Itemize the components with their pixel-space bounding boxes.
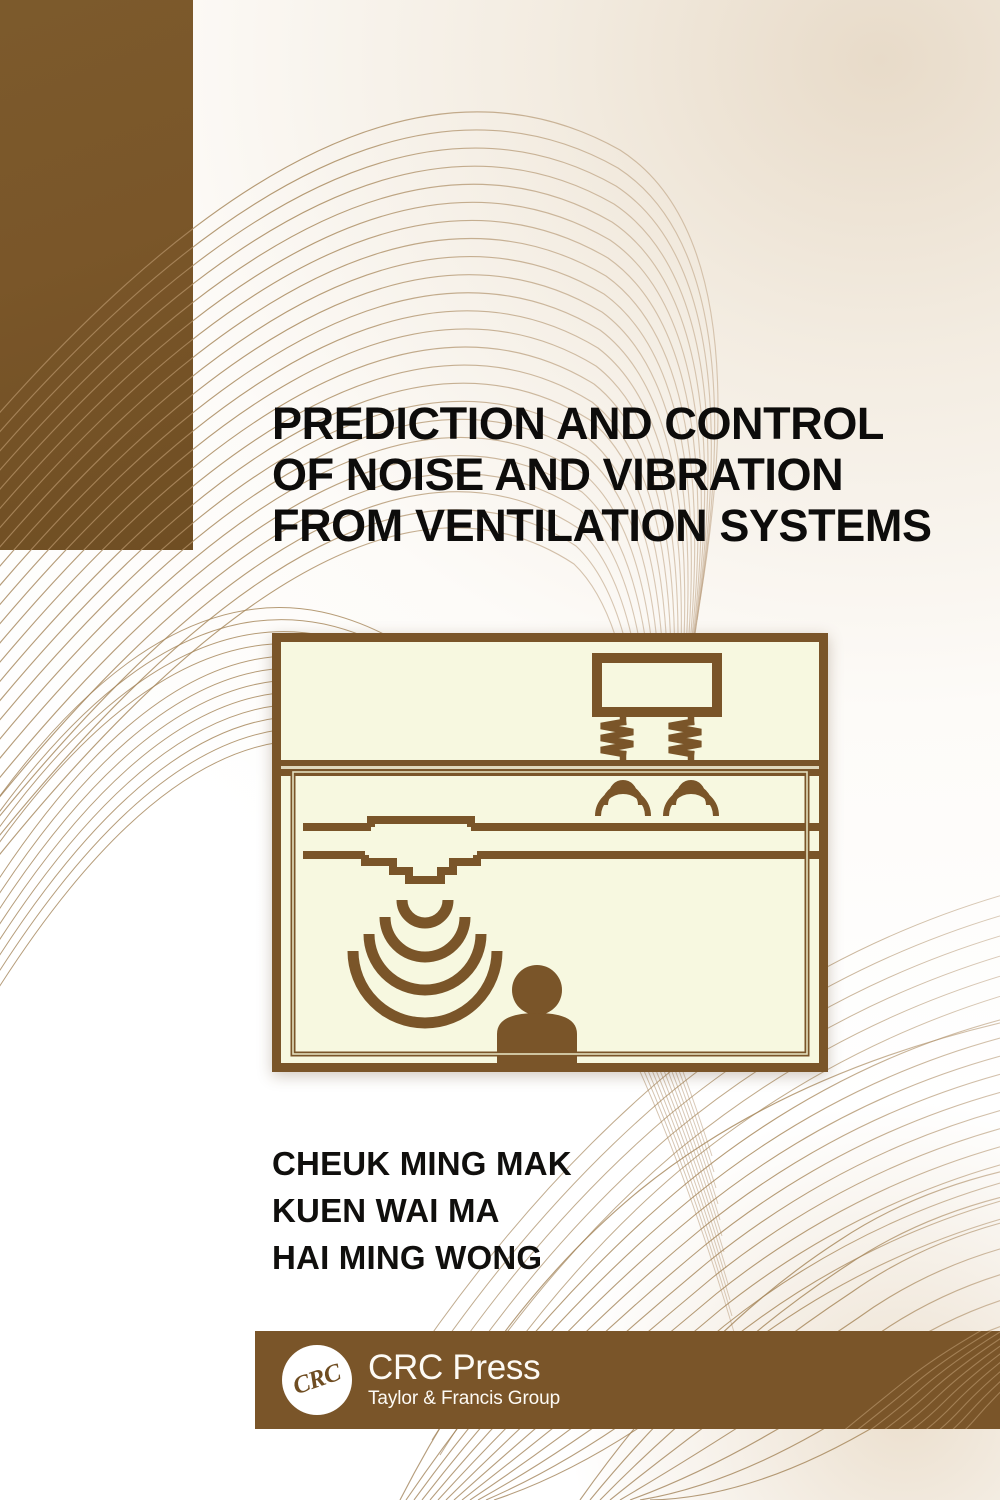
title-line-3: FROM VENTILATION SYSTEMS — [272, 500, 932, 551]
crc-roundel-icon: CRC — [282, 1345, 352, 1415]
publisher-name: CRC Press — [368, 1349, 560, 1386]
illustration-canvas — [281, 642, 819, 1063]
title-line-2: OF NOISE AND VIBRATION — [272, 449, 932, 500]
title-line-1: PREDICTION AND CONTROL — [272, 398, 932, 449]
book-cover: PREDICTION AND CONTROL OF NOISE AND VIBR… — [0, 0, 1000, 1500]
author-3: HAI MING WONG — [272, 1234, 792, 1281]
cover-illustration — [272, 633, 828, 1072]
author-1: CHEUK MING MAK — [272, 1140, 792, 1187]
publisher-logo: CRC CRC Press Taylor & Francis Group — [255, 1331, 1000, 1429]
publisher-name-block: CRC Press Taylor & Francis Group — [368, 1349, 560, 1411]
author-list: CHEUK MING MAK KUEN WAI MA HAI MING WONG — [272, 1140, 792, 1281]
book-title: PREDICTION AND CONTROL OF NOISE AND VIBR… — [272, 398, 932, 551]
crc-roundel-label: CRC — [289, 1359, 344, 1401]
publisher-imprint: Taylor & Francis Group — [368, 1386, 560, 1411]
author-2: KUEN WAI MA — [272, 1187, 792, 1234]
publisher-band: CRC CRC Press Taylor & Francis Group — [255, 1331, 1000, 1429]
